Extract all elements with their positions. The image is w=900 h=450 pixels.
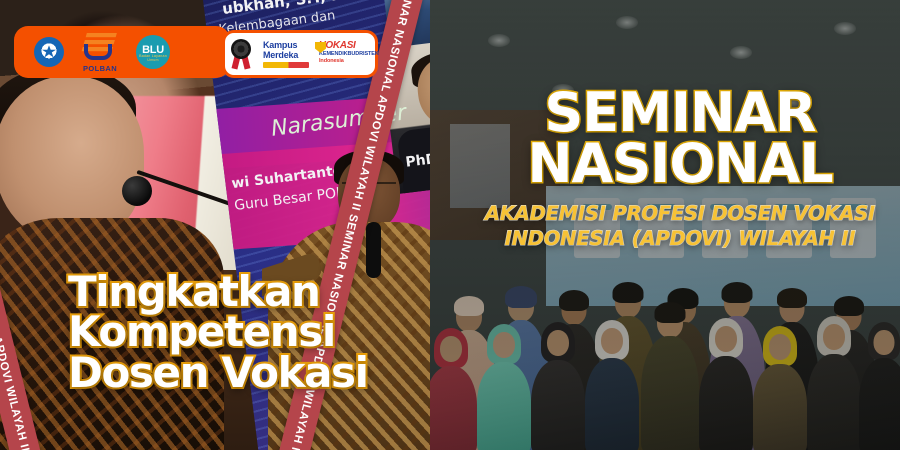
kemdikbud-tut-wuri-handayani-logo [34, 37, 64, 67]
title-line-2: NASIONAL [470, 139, 890, 190]
rosette-medallion [231, 39, 251, 59]
headline-line-2: Kompetensi [68, 312, 468, 352]
vokasi-ministry-text: KEMENDIKBUDRISTEK [319, 51, 371, 58]
headline-line-3: Dosen Vokasi [68, 353, 468, 393]
polban-u-icon [84, 44, 112, 60]
subtitle-line-2: INDONESIA (APDOVI) WILAYAH II [470, 227, 890, 250]
kampus-merdeka-colorbar [263, 62, 309, 68]
vokasi-wordmark: VOKASI [319, 41, 371, 51]
polban-logo: POLBAN [78, 33, 122, 71]
vokasi-country-text: Indonesia [319, 58, 371, 65]
title-block: SEMINAR NASIONAL AKADEMISI PROFESI DOSEN… [470, 88, 890, 250]
seminar-banner: ubkhan, S.T, M.T Kelembagaan dan Narasum… [0, 0, 900, 450]
logo-bar-program: Kampus Merdeka VOKASI KEMENDIKBUDRISTEK … [222, 30, 378, 78]
blu-logo: BLU Badan Layanan Umum [136, 35, 170, 69]
logo-bar-institutional: POLBAN BLU Badan Layanan Umum [14, 26, 230, 78]
blu-wordmark: BLU [136, 35, 170, 69]
handheld-microphone [366, 222, 381, 278]
vokasi-indonesia-logo: VOKASI KEMENDIKBUDRISTEK Indonesia [319, 41, 371, 67]
kampus-merdeka-logo: Kampus Merdeka [263, 41, 309, 67]
rosette-award-icon [229, 39, 253, 69]
headline-block: Tingkatkan Kompetensi Dosen Vokasi [68, 272, 468, 393]
subtitle-line-1: AKADEMISI PROFESI DOSEN VOKASI [470, 202, 890, 225]
polban-wordmark: POLBAN [78, 64, 122, 73]
microphone-head [122, 176, 152, 206]
kampus-merdeka-line2: Merdeka [263, 51, 309, 61]
blu-subtext: Badan Layanan Umum [136, 54, 170, 62]
